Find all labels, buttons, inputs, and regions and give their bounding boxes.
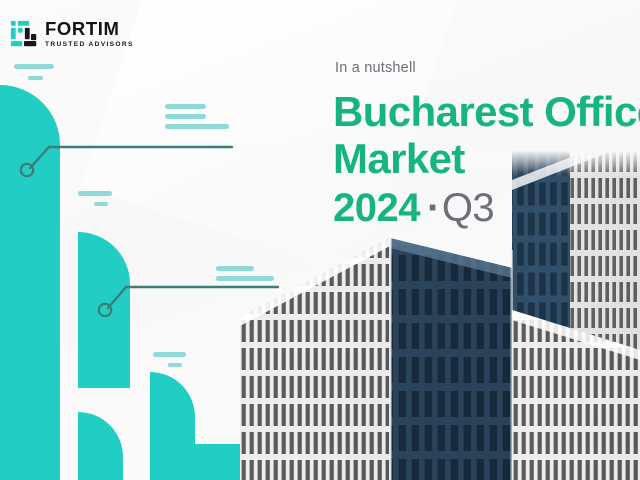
cover-slide: FORTIM TRUSTED ADVISORS <box>0 0 640 480</box>
page-title: Bucharest Office Market <box>333 88 640 182</box>
report-year: 2024 <box>333 186 420 230</box>
decor-bar <box>78 191 112 196</box>
decor-bar <box>28 76 43 80</box>
fortim-f-mark-icon <box>10 20 38 48</box>
decor-bar <box>94 202 108 206</box>
decor-bar <box>168 363 182 367</box>
decor-bar <box>165 104 206 109</box>
corner-seam-left <box>389 238 392 480</box>
connector-upper <box>0 118 240 178</box>
report-quarter: Q3 <box>442 186 494 230</box>
decor-bar <box>153 352 186 357</box>
title-line-1: Bucharest Office <box>333 88 640 135</box>
report-separator: · <box>427 186 440 230</box>
circle-node <box>99 304 111 316</box>
report-period: 2024·Q3 <box>333 186 640 230</box>
headline-block: In a nutshell Bucharest Office Market 20… <box>333 60 640 230</box>
brand-logo[interactable]: FORTIM TRUSTED ADVISORS <box>10 20 134 48</box>
logo-tagline: TRUSTED ADVISORS <box>45 42 134 49</box>
logo-wordmark: FORTIM TRUSTED ADVISORS <box>45 20 134 48</box>
logo-name: FORTIM <box>45 20 134 39</box>
decor-bar <box>14 64 54 69</box>
eyebrow-text: In a nutshell <box>335 60 640 76</box>
corner-seam-right <box>511 250 514 480</box>
title-line-2: Market <box>333 135 640 182</box>
circle-node <box>21 164 33 176</box>
